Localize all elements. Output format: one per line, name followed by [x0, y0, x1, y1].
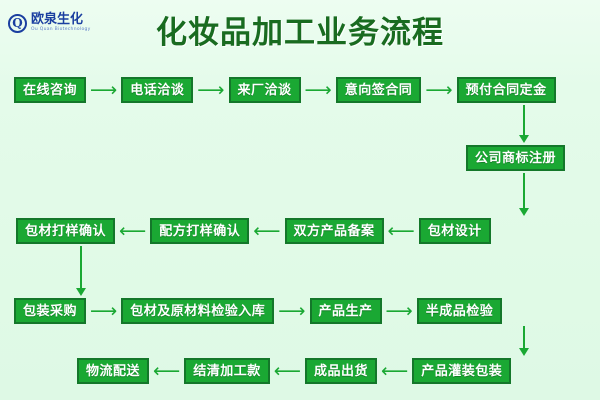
flow-node-settle-processing-fee[interactable]: 结清加工款	[184, 358, 270, 384]
flow-node-product-filing[interactable]: 双方产品备案	[285, 218, 384, 244]
connector-shaft	[523, 105, 525, 136]
connector-arrow-down-icon	[517, 105, 531, 143]
flow-node-packaging-design[interactable]: 包材设计	[419, 218, 491, 244]
flow-row-5: 物流配送 ⟵ 结清加工款 ⟵ 成品出货 ⟵ 产品灌装包装	[77, 358, 511, 384]
flow-node-logistics-delivery[interactable]: 物流配送	[77, 358, 149, 384]
flow-node-factory-visit[interactable]: 来厂洽谈	[229, 77, 301, 103]
flow-node-finished-goods-shipment[interactable]: 成品出货	[305, 358, 377, 384]
arrow-left-icon: ⟵	[270, 362, 305, 381]
arrow-right-icon: ⟶	[382, 302, 417, 321]
connector-shaft	[523, 326, 525, 349]
connector-shaft	[523, 173, 525, 209]
connector-head	[519, 348, 529, 356]
arrow-left-icon: ⟵	[149, 362, 184, 381]
flow-node-filling-packaging[interactable]: 产品灌装包装	[412, 358, 511, 384]
flow-node-packaging-sample-confirm[interactable]: 包材打样确认	[16, 218, 115, 244]
flowchart-page: Q 欧泉生化 Ou Quan Biotechnology 化妆品加工业务流程 在…	[0, 0, 600, 400]
arrow-left-icon: ⟵	[249, 222, 284, 241]
flow-node-phone-negotiation[interactable]: 电话洽谈	[121, 77, 193, 103]
flow-node-contract-deposit[interactable]: 预付合同定金	[457, 77, 556, 103]
connector-head	[76, 288, 86, 296]
connector-head	[519, 208, 529, 216]
flow-row-1: 在线咨询 ⟶ 电话洽谈 ⟶ 来厂洽谈 ⟶ 意向签合同 ⟶ 预付合同定金	[14, 77, 556, 103]
flow-node-semifinished-inspection[interactable]: 半成品检验	[417, 298, 503, 324]
flow-node-intent-contract[interactable]: 意向签合同	[336, 77, 422, 103]
arrow-right-icon: ⟶	[86, 81, 121, 100]
arrow-left-icon: ⟵	[384, 222, 419, 241]
flow-node-online-consult[interactable]: 在线咨询	[14, 77, 86, 103]
arrow-left-icon: ⟵	[377, 362, 412, 381]
connector-head	[519, 135, 529, 143]
flow-row-3: 包材打样确认 ⟵ 配方打样确认 ⟵ 双方产品备案 ⟵ 包材设计	[16, 218, 491, 244]
arrow-right-icon: ⟶	[274, 302, 309, 321]
arrow-right-icon: ⟶	[421, 81, 456, 100]
flow-row-2: 公司商标注册	[466, 145, 565, 171]
connector-arrow-down-icon	[517, 326, 531, 356]
connector-shaft	[80, 246, 82, 289]
arrow-right-icon: ⟶	[193, 81, 228, 100]
flow-node-formula-sample-confirm[interactable]: 配方打样确认	[150, 218, 249, 244]
connector-arrow-down-icon	[517, 173, 531, 216]
flow-row-4: 包装采购 ⟶ 包材及原材料检验入库 ⟶ 产品生产 ⟶ 半成品检验	[14, 298, 502, 324]
flow-node-packaging-purchase[interactable]: 包装采购	[14, 298, 86, 324]
arrow-right-icon: ⟶	[301, 81, 336, 100]
arrow-right-icon: ⟶	[86, 302, 121, 321]
arrow-left-icon: ⟵	[115, 222, 150, 241]
connector-arrow-down-icon	[74, 246, 88, 296]
flow-node-trademark-registration[interactable]: 公司商标注册	[466, 145, 565, 171]
flow-node-production[interactable]: 产品生产	[310, 298, 382, 324]
flow-node-material-inspection-storage[interactable]: 包材及原材料检验入库	[121, 298, 274, 324]
page-title: 化妆品加工业务流程	[0, 7, 600, 52]
